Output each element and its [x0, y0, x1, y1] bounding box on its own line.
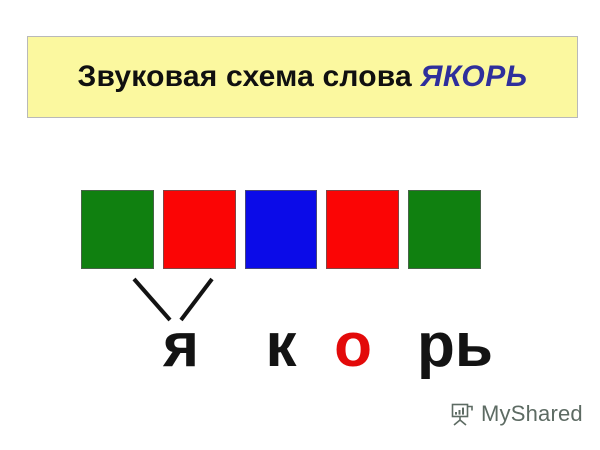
title-highlight-word: ЯКОРЬ: [420, 60, 527, 93]
sound-square-red-4: [326, 190, 399, 269]
sound-square-blue-3: [245, 190, 318, 269]
word-letters-row: якорь: [81, 313, 481, 379]
page-title: Звуковая схема слова ЯКОРЬ: [78, 62, 528, 92]
watermark: MyShared: [449, 401, 583, 427]
sound-square-green-5: [408, 190, 481, 269]
word-letter-2: к: [259, 313, 303, 379]
word-letter-1: я: [151, 313, 211, 379]
sound-scheme-squares: [81, 190, 481, 269]
word-letter-3: о: [331, 313, 375, 379]
sound-square-red-2: [163, 190, 236, 269]
title-banner: Звуковая схема слова ЯКОРЬ: [27, 36, 578, 118]
flipchart-icon: [449, 401, 475, 427]
watermark-label: MyShared: [481, 401, 583, 427]
word-letter-4: рь: [417, 313, 481, 379]
slide-canvas: Звуковая схема слова ЯКОРЬ якорь MyShare…: [0, 0, 600, 450]
title-prefix: Звуковая схема слова: [78, 60, 421, 93]
sound-square-green-1: [81, 190, 154, 269]
